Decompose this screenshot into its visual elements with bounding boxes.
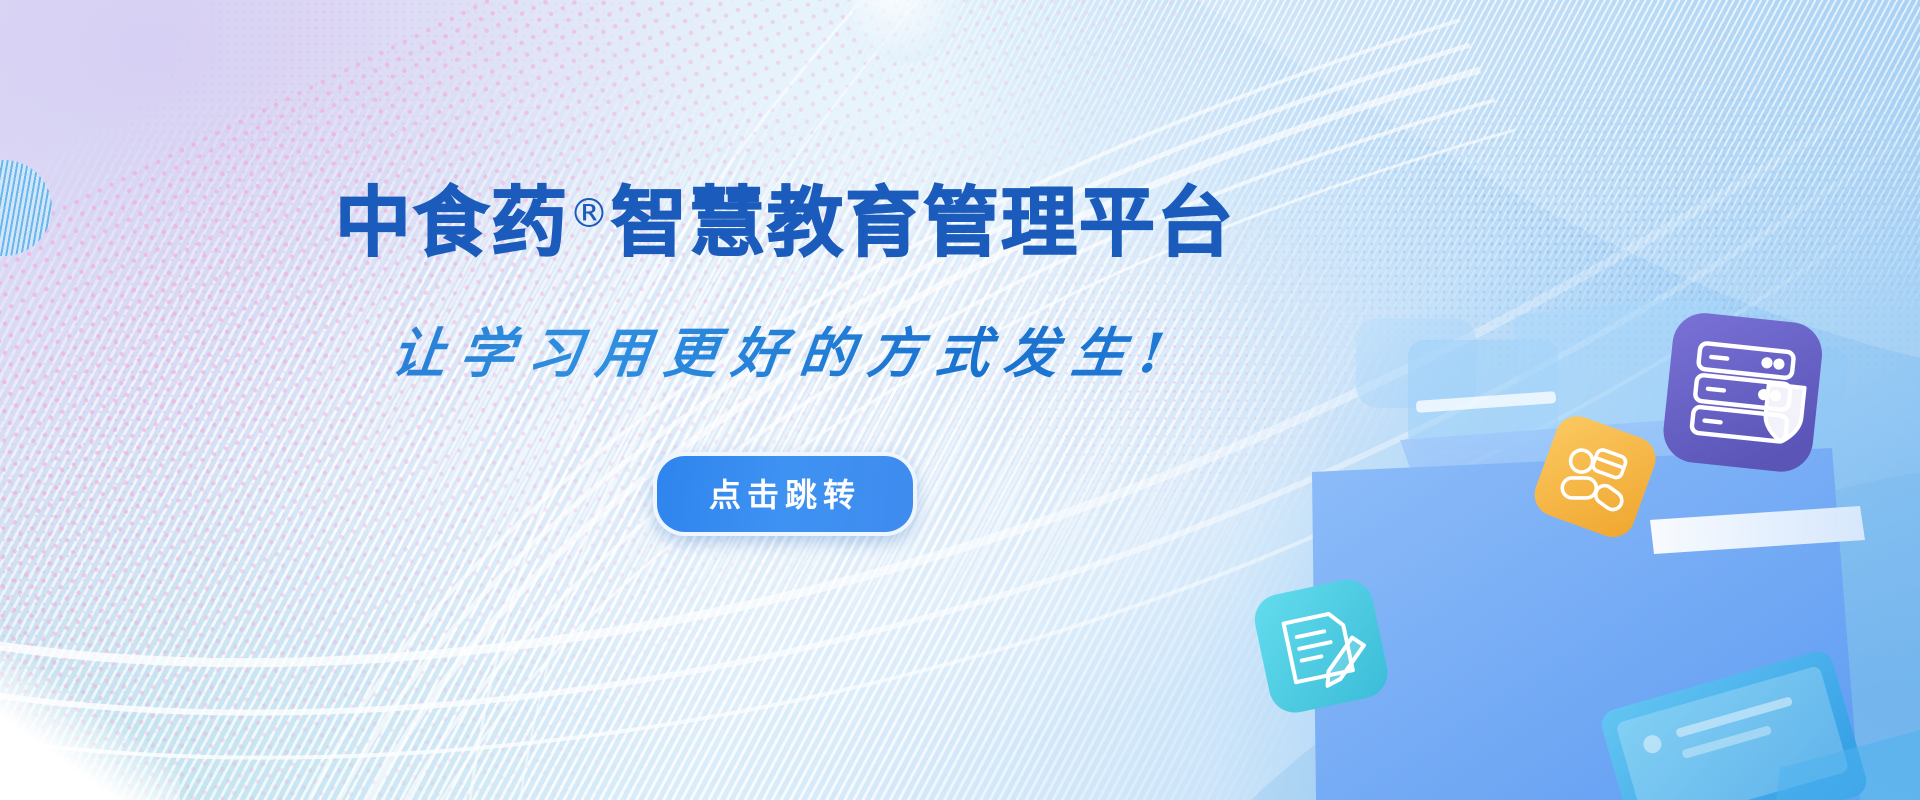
registered-trademark-icon: ®	[569, 191, 611, 237]
title-text-part1: 中食药	[335, 178, 569, 267]
promo-banner: 中食药®智慧教育管理平台 让学习用更好的方式发生! 点击跳转	[0, 0, 1920, 800]
page-subtitle: 让学习用更好的方式发生!	[0, 318, 1574, 388]
jump-button[interactable]: 点击跳转	[653, 452, 917, 536]
cta-container: 点击跳转	[0, 452, 1570, 536]
title-text-part2: 智慧教育管理平台	[611, 178, 1235, 267]
page-title: 中食药®智慧教育管理平台	[0, 172, 1570, 265]
banner-content: 中食药®智慧教育管理平台 让学习用更好的方式发生! 点击跳转	[0, 0, 1570, 800]
